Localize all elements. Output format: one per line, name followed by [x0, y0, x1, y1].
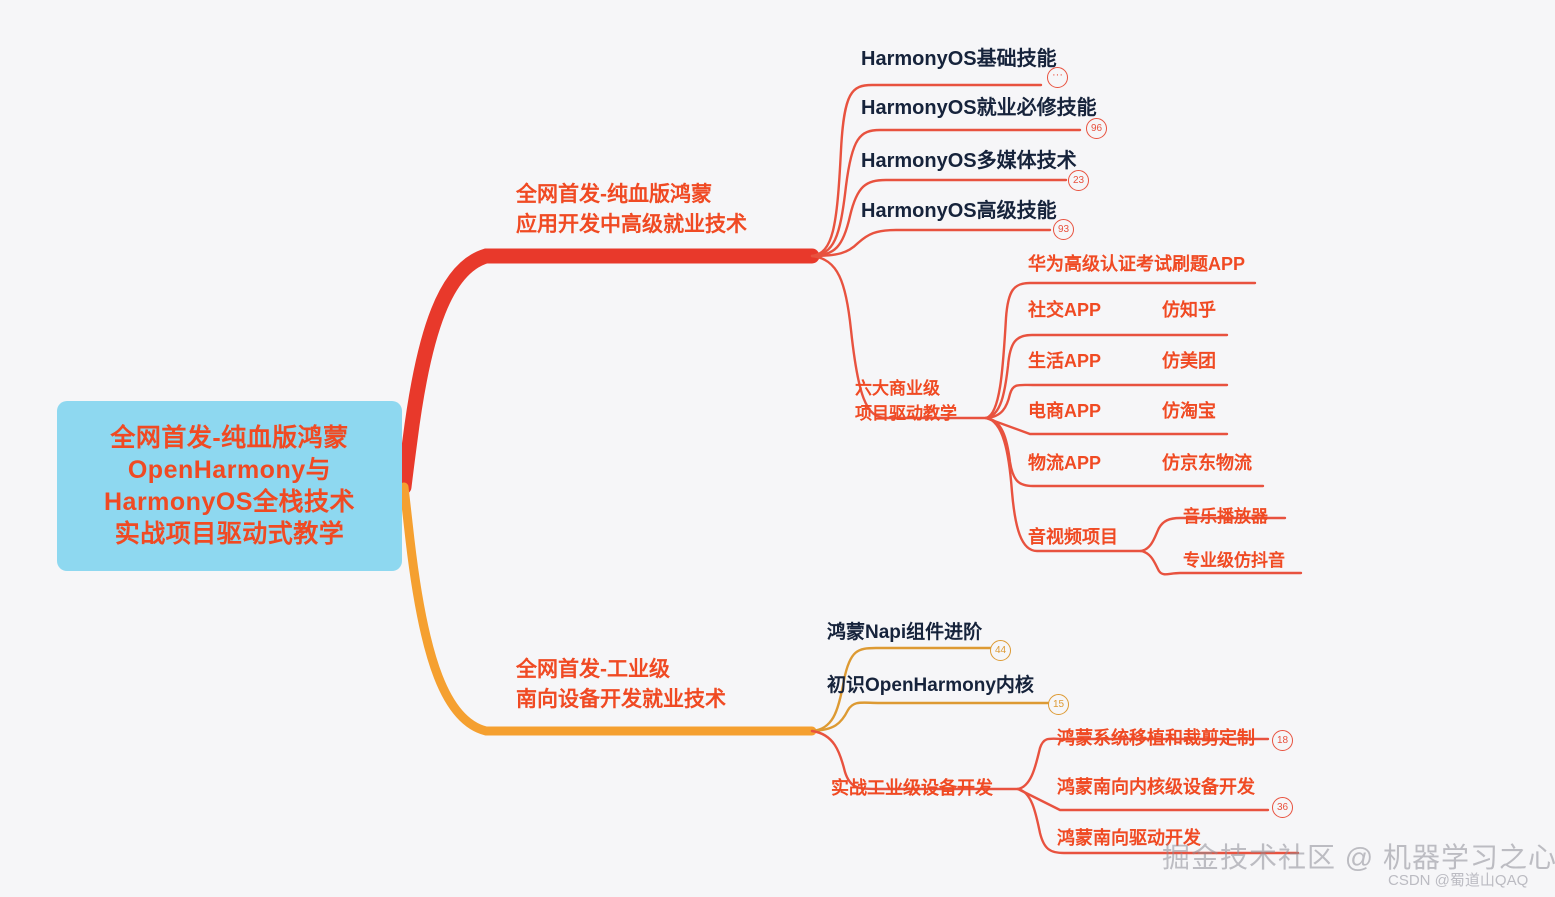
six-projects-line-1: 六大商业级 [855, 376, 957, 401]
leaf-harmonyos-advanced[interactable]: HarmonyOS高级技能 [861, 198, 1057, 224]
root-line-1: 全网首发-纯血版鸿蒙 [110, 422, 348, 454]
badge-system-porting: 18 [1272, 730, 1293, 751]
node-av-project[interactable]: 音视频项目 [1028, 525, 1118, 550]
leaf-social-app-sub[interactable]: 仿知乎 [1162, 298, 1216, 323]
leaf-life-app-sub[interactable]: 仿美团 [1162, 349, 1216, 374]
six-projects-line-2: 项目驱动教学 [855, 401, 957, 426]
leaf-music-player[interactable]: 音乐播放器 [1183, 504, 1268, 529]
leaf-system-porting[interactable]: 鸿蒙系统移植和裁剪定制 [1057, 726, 1255, 751]
badge-harmonyos-multimedia: 23 [1068, 170, 1089, 191]
branch-label-app-dev[interactable]: 全网首发-纯血版鸿蒙 应用开发中高级就业技术 [516, 180, 747, 240]
leaf-harmonyos-basics[interactable]: HarmonyOS基础技能 [861, 46, 1057, 72]
leaf-logistics-app[interactable]: 物流APP [1028, 451, 1101, 476]
leaf-napi-component[interactable]: 鸿蒙Napi组件进阶 [827, 620, 982, 645]
leaf-douyin-clone[interactable]: 专业级仿抖音 [1183, 548, 1285, 573]
leaf-logistics-app-sub[interactable]: 仿京东物流 [1162, 451, 1252, 476]
leaf-huawei-cert-app[interactable]: 华为高级认证考试刷题APP [1028, 252, 1245, 277]
leaf-harmonyos-employment[interactable]: HarmonyOS就业必修技能 [861, 95, 1097, 121]
branch-label-app-dev-line-2: 应用开发中高级就业技术 [516, 210, 747, 240]
root-line-2: OpenHarmony与 [128, 454, 331, 486]
leaf-social-app[interactable]: 社交APP [1028, 298, 1101, 323]
node-industrial-device-dev[interactable]: 实战工业级设备开发 [831, 776, 993, 801]
wire-harmonyos-advanced [812, 230, 1050, 256]
branch-label-device-dev-line-1: 全网首发-工业级 [516, 655, 726, 685]
badge-kernel-device-dev: 36 [1272, 797, 1293, 818]
leaf-life-app[interactable]: 生活APP [1028, 349, 1101, 374]
badge-napi-component: 44 [990, 640, 1011, 661]
leaf-ecommerce-app-sub[interactable]: 仿淘宝 [1162, 399, 1216, 424]
watermark-secondary: CSDN @蜀道山QAQ [1388, 869, 1528, 890]
branch-label-device-dev[interactable]: 全网首发-工业级 南向设备开发就业技术 [516, 655, 726, 715]
leaf-ecommerce-app[interactable]: 电商APP [1028, 399, 1101, 424]
wire-openharmony-kernel [812, 703, 1054, 731]
badge-harmonyos-basics: ··· [1047, 67, 1068, 88]
badge-harmonyos-advanced: 93 [1053, 219, 1074, 240]
leaf-harmonyos-multimedia[interactable]: HarmonyOS多媒体技术 [861, 148, 1077, 174]
badge-openharmony-kernel: 15 [1048, 694, 1069, 715]
main-branch-app-dev [404, 256, 812, 487]
root-node[interactable]: 全网首发-纯血版鸿蒙 OpenHarmony与 HarmonyOS全栈技术 实战… [57, 401, 402, 571]
root-line-4: 实战项目驱动式教学 [115, 518, 345, 550]
root-line-3: HarmonyOS全栈技术 [104, 486, 355, 518]
branch-label-device-dev-line-2: 南向设备开发就业技术 [516, 685, 726, 715]
leaf-kernel-device-dev[interactable]: 鸿蒙南向内核级设备开发 [1057, 775, 1255, 800]
badge-harmonyos-employment: 96 [1086, 118, 1107, 139]
branch-label-app-dev-line-1: 全网首发-纯血版鸿蒙 [516, 180, 747, 210]
node-six-commercial-projects[interactable]: 六大商业级 项目驱动教学 [855, 376, 957, 426]
leaf-openharmony-kernel[interactable]: 初识OpenHarmony内核 [827, 673, 1034, 698]
mindmap-canvas: 全网首发-纯血版鸿蒙 OpenHarmony与 HarmonyOS全栈技术 实战… [0, 0, 1555, 897]
